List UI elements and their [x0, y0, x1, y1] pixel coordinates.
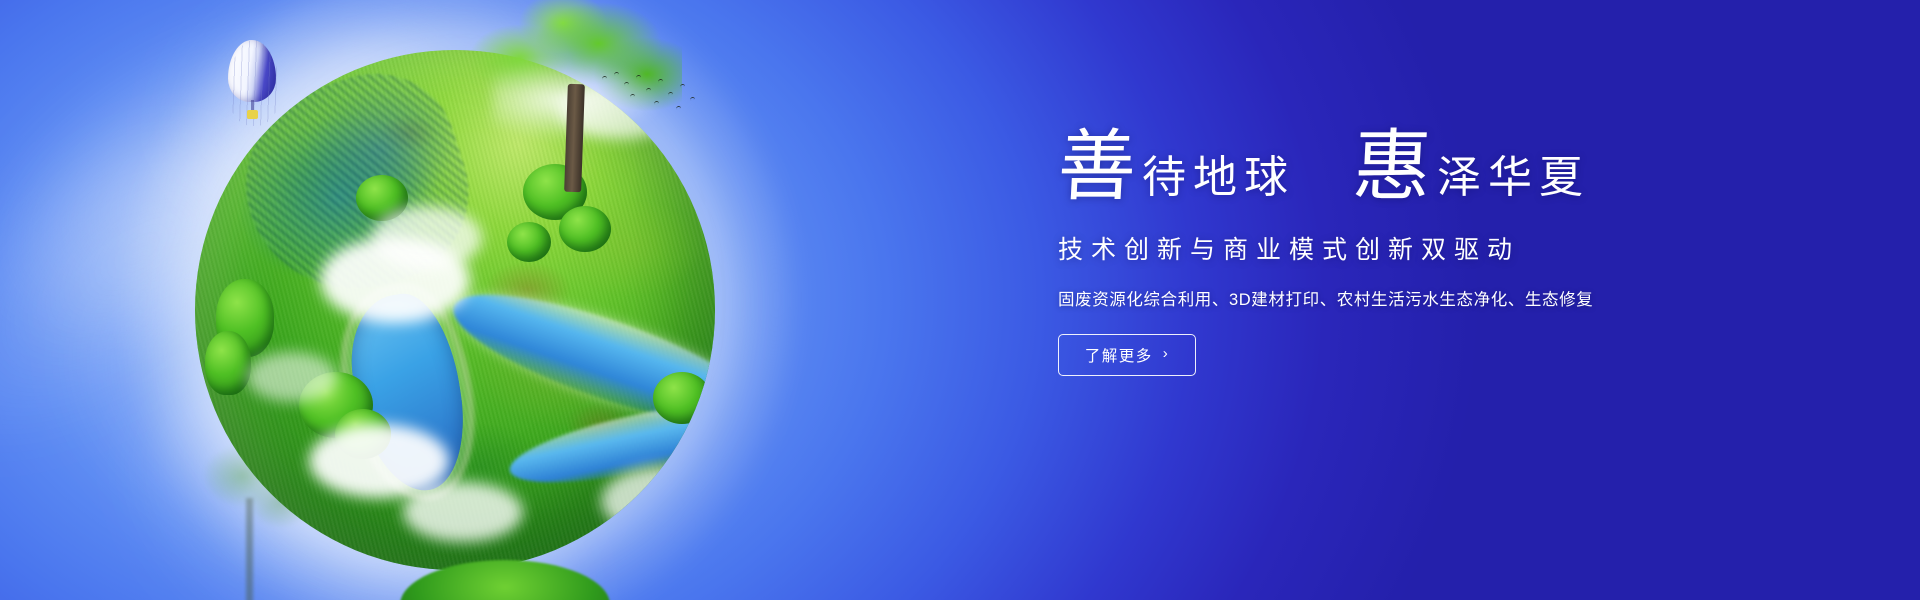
bird-icon	[676, 106, 681, 110]
bush	[507, 222, 551, 262]
chevron-right-icon: ›	[1163, 346, 1170, 361]
subheadline: 技术创新与商业模式创新双驱动	[1058, 230, 1758, 266]
bird-icon	[690, 97, 695, 101]
bird-icon	[668, 92, 673, 96]
surface-cloud	[372, 206, 482, 270]
headline-rest-chars: 泽华夏	[1437, 156, 1590, 204]
surface-cloud	[247, 352, 337, 402]
bush	[653, 372, 711, 424]
headline: 善 待地球 惠 泽华夏	[1058, 132, 1758, 204]
hot-air-balloon-icon	[228, 40, 280, 126]
surface-cloud	[403, 482, 523, 542]
banner-content: 善 待地球 惠 泽华夏 技术创新与商业模式创新双驱动 固废资源化综合利用、3D建…	[1058, 132, 1758, 376]
bird-icon	[636, 75, 641, 79]
bush	[205, 331, 251, 395]
bird-icon	[654, 101, 659, 105]
hero-banner: 善 待地球 惠 泽华夏 技术创新与商业模式创新双驱动 固废资源化综合利用、3D建…	[0, 0, 1920, 600]
balloon-basket	[247, 110, 258, 119]
bush	[559, 206, 611, 252]
learn-more-button[interactable]: 了解更多 ›	[1058, 334, 1196, 376]
headline-rest-chars: 待地球	[1142, 156, 1295, 204]
headline-phrase-1: 善 待地球	[1058, 132, 1295, 204]
bird-icon	[680, 84, 685, 88]
bird-icon	[646, 88, 651, 92]
headline-hero-char: 善	[1056, 132, 1144, 204]
bird-icon	[614, 72, 619, 76]
bird-icon	[602, 76, 607, 80]
bird-icon	[624, 82, 629, 86]
surface-cloud	[601, 466, 715, 536]
tree-trunk	[564, 84, 585, 193]
background-tree-trunk	[246, 498, 253, 600]
bird-flock	[600, 70, 710, 112]
headline-hero-char: 惠	[1351, 132, 1439, 204]
description-text: 固废资源化综合利用、3D建材打印、农村生活污水生态净化、生态修复	[1058, 286, 1758, 310]
learn-more-label: 了解更多	[1085, 344, 1153, 366]
tiny-planet-illustration	[170, 30, 740, 600]
bird-icon	[658, 79, 663, 83]
bird-icon	[630, 94, 635, 98]
headline-phrase-2: 惠 泽华夏	[1353, 132, 1590, 204]
